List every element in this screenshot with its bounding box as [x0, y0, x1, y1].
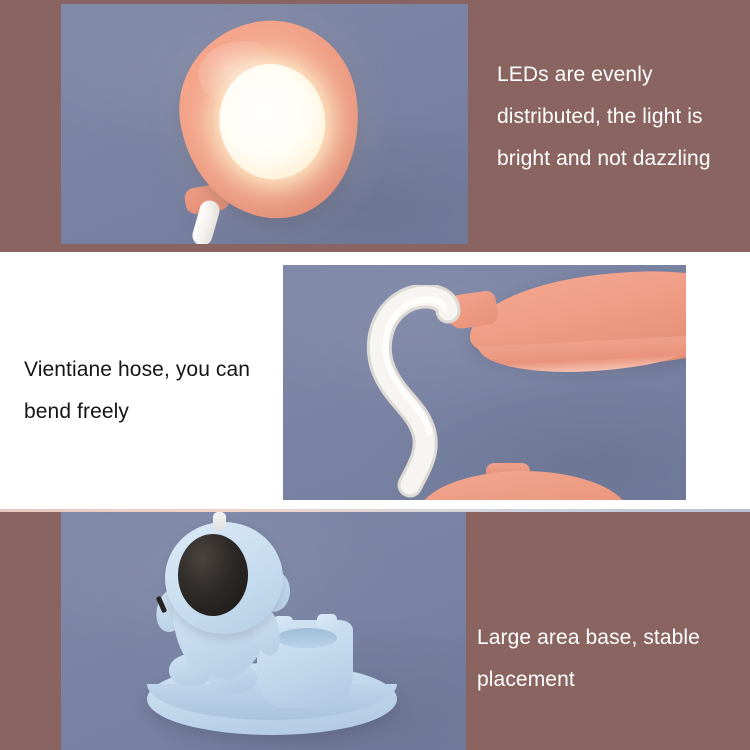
panel-leds: LEDs are evenly distributed, the light i…: [0, 0, 750, 252]
caption-hose: Vientiane hose, you can bend freely: [24, 349, 274, 433]
caption-leds: LEDs are evenly distributed, the light i…: [497, 54, 747, 180]
photo-gooseneck-hose: [283, 265, 686, 500]
pen-holder-opening: [277, 628, 337, 648]
caption-base: Large area base, stable placement: [477, 617, 739, 701]
photo-lamp-head: [61, 4, 468, 244]
astronaut-antenna: [213, 512, 226, 530]
panel-base: Large area base, stable placement: [0, 512, 750, 750]
led-glow-panel: [211, 56, 334, 187]
product-feature-infographic: LEDs are evenly distributed, the light i…: [0, 0, 750, 750]
lamp-bezel-ring: [202, 46, 343, 197]
photo-astronaut-base: [61, 512, 466, 750]
astronaut-visor: [178, 534, 248, 616]
panel-hose: Vientiane hose, you can bend freely: [0, 252, 750, 512]
